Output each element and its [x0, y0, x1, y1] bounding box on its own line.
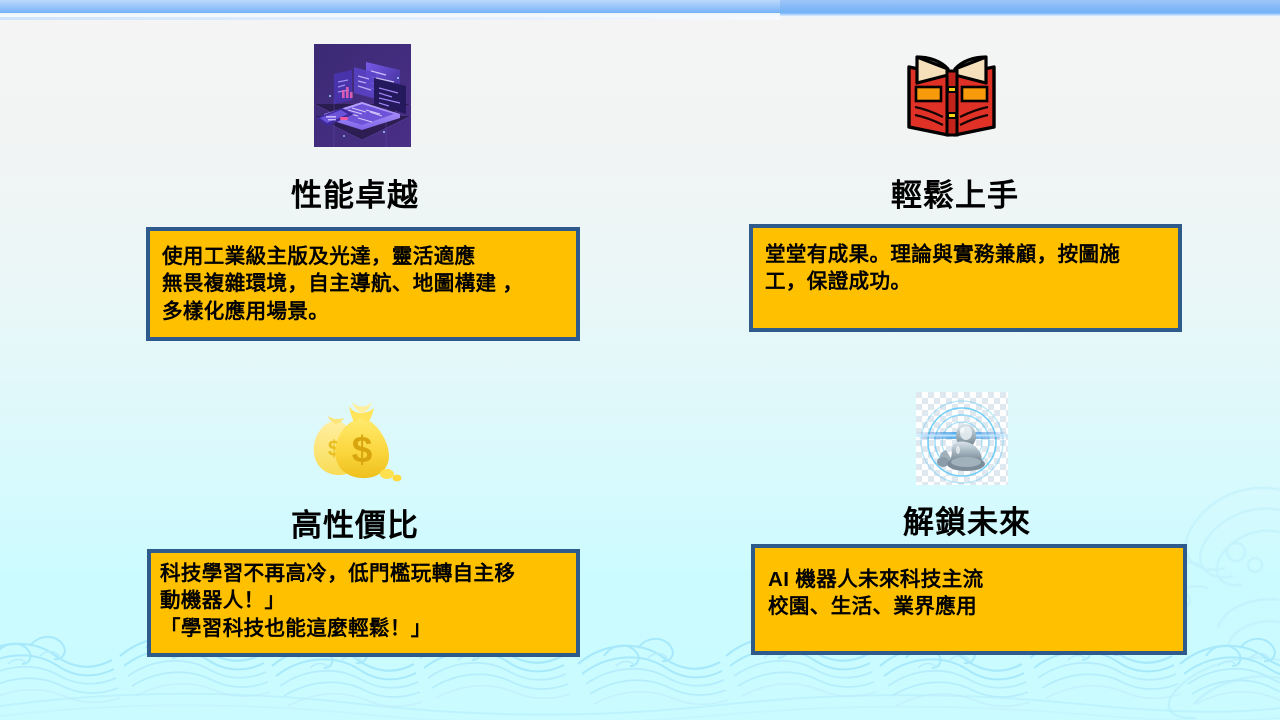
callout-line: 「學習科技也能這麼輕鬆！」: [160, 615, 576, 642]
slide-canvas: 性能卓越 使用工業級主版及光達，靈活適應 無畏複雜環境，自主導航、地圖構建 ， …: [0, 0, 1280, 720]
panel-title-cost-effective: 高性價比: [205, 500, 505, 545]
callout-line: 校園、生活、業界應用: [768, 593, 1183, 620]
panel-title-easy-to-learn: 輕鬆上手: [805, 170, 1105, 215]
isometric-laptop-code-image: [314, 44, 411, 147]
callout-line: 多樣化應用場景。: [162, 298, 576, 325]
callout-line: AI 機器人未來科技主流: [768, 566, 1183, 593]
svg-text:$: $: [352, 429, 373, 470]
panel-callout-cost-effective: 科技學習不再高冷，低門檻玩轉自主移 動機器人！」 「學習科技也能這麼輕鬆！」: [147, 549, 580, 657]
top-accent-band: [0, 0, 1280, 22]
callout-line: 無畏複雜環境，自主導航、地圖構建 ，: [162, 270, 576, 297]
robot-waves-image: [916, 392, 1008, 485]
panel-callout-easy-to-learn: 堂堂有成果。理論與實務兼顧，按圖施 工，保證成功。: [749, 224, 1182, 332]
panel-callout-unlock-future: AI 機器人未來科技主流 校園、生活、業界應用: [751, 544, 1187, 655]
panel-title-unlock-future: 解鎖未來: [817, 497, 1117, 542]
money-bag-icon: $ $: [308, 398, 403, 483]
panel-title-performance: 性能卓越: [205, 170, 505, 215]
callout-line: 科技學習不再高冷，低門檻玩轉自主移: [160, 560, 576, 587]
callout-line: 動機器人！」: [160, 587, 576, 614]
band-hairline: [0, 17, 780, 20]
panel-callout-performance: 使用工業級主版及光達，靈活適應 無畏複雜環境，自主導航、地圖構建 ， 多樣化應用…: [146, 227, 580, 341]
callout-line: 工，保證成功。: [765, 268, 1178, 295]
band-segment-right: [780, 0, 1280, 17]
open-book-icon: [903, 47, 1000, 140]
callout-line: 堂堂有成果。理論與實務兼顧，按圖施: [765, 241, 1178, 268]
callout-line: 使用工業級主版及光達，靈活適應: [162, 243, 576, 270]
